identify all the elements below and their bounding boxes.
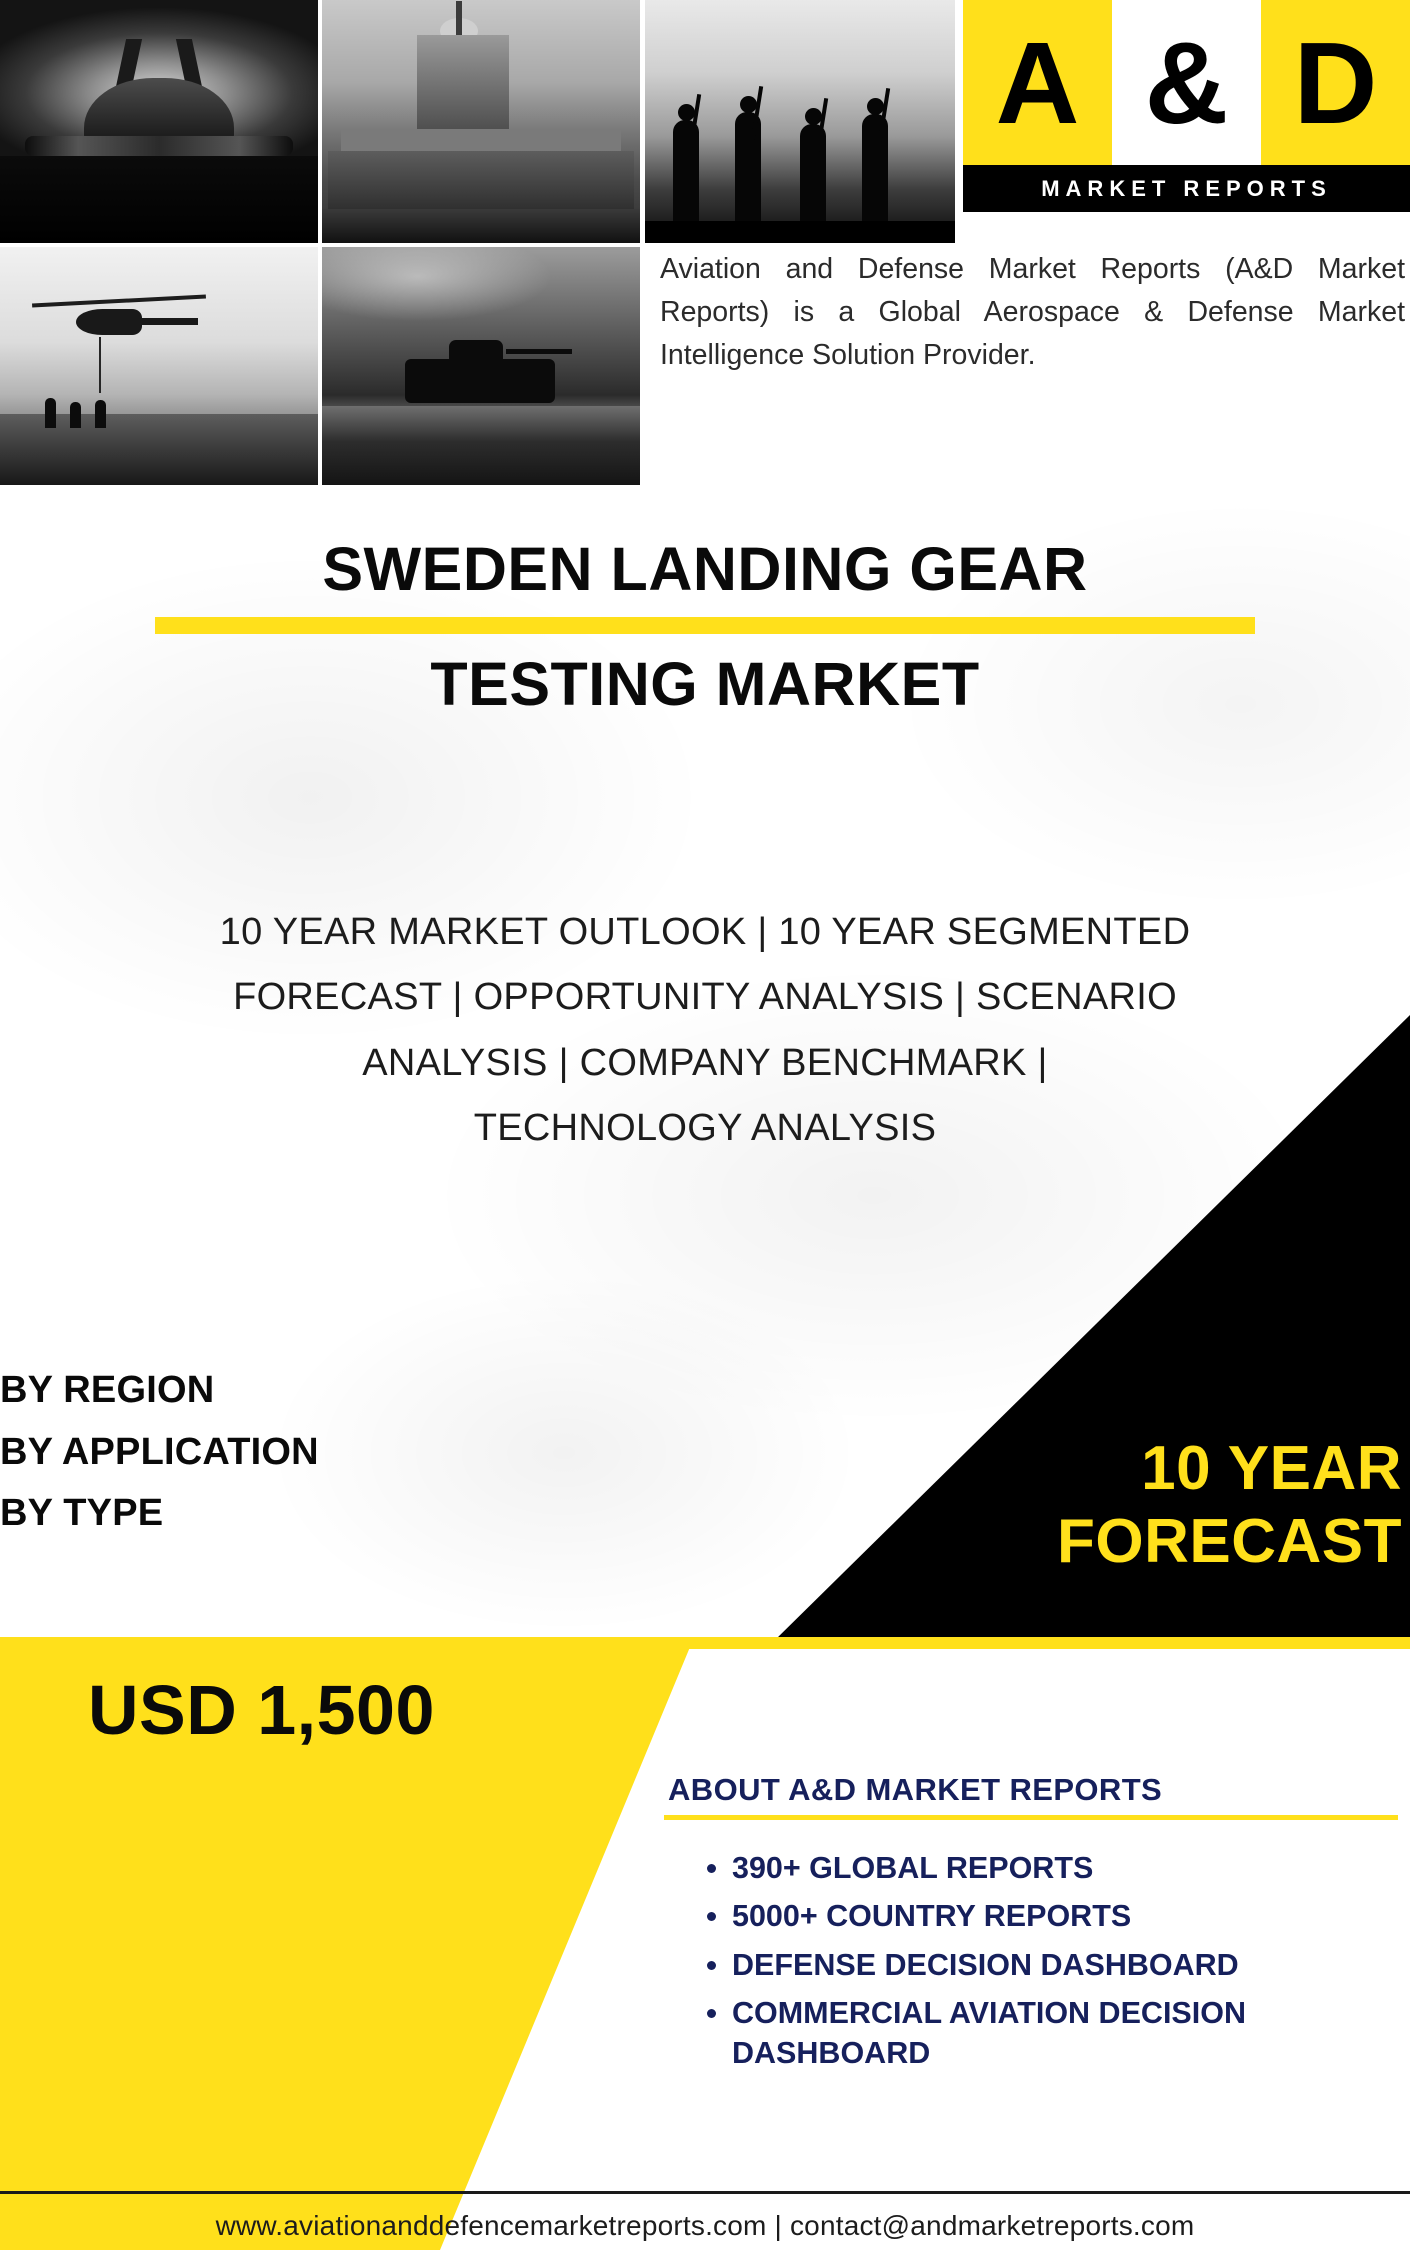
intro-paragraph: Aviation and Defense Market Reports (A&D… [660,248,1405,376]
logo-letter-d: D [1261,0,1410,165]
armored-vehicle-photo [322,247,640,485]
helicopter-photo [0,247,318,485]
subtitle-line-3: ANALYSIS | COMPANY BENCHMARK | [0,1031,1410,1096]
jet-wing [25,136,293,156]
about-heading-underline [664,1815,1398,1820]
subtitle-line-1: 10 YEAR MARKET OUTLOOK | 10 YEAR SEGMENT… [0,900,1410,965]
field-figure [95,400,106,428]
title-line-2: TESTING MARKET [0,650,1410,718]
tank-ground [322,406,640,485]
helicopter-tail-boom [140,318,198,325]
soldier-silhouette [735,112,761,224]
subtitle-line-2: FORECAST | OPPORTUNITY ANALYSIS | SCENAR… [0,965,1410,1030]
footer-contact: www.aviationanddefencemarketreports.com … [0,2210,1410,2242]
forecast-line-1: 10 YEAR [662,1432,1402,1505]
ship-water [322,209,640,243]
field-figure [70,402,81,428]
soldiers-ground [645,221,955,243]
helicopter-fuselage [76,309,142,335]
jet-runway [0,156,318,243]
tank-gun-barrel [506,349,572,354]
about-bullet-list: 390+ GLOBAL REPORTS 5000+ COUNTRY REPORT… [690,1848,1410,2081]
soldiers-silhouette-photo [645,0,955,243]
footer-divider [0,2191,1410,2194]
tank-turret [449,340,503,364]
logo-letter-ampersand: & [1112,0,1261,165]
subtitle-block: 10 YEAR MARKET OUTLOOK | 10 YEAR SEGMENT… [0,900,1410,1161]
forecast-line-2: FORECAST [662,1505,1402,1578]
soldier-silhouette [862,114,888,224]
about-heading: ABOUT A&D MARKET REPORTS [668,1772,1398,1808]
subtitle-line-4: TECHNOLOGY ANALYSIS [0,1096,1410,1161]
helicopter-rappel-line [99,337,101,393]
title-line-1: SWEDEN LANDING GEAR [0,535,1410,603]
tank-hull [405,359,555,403]
about-item-global-reports: 390+ GLOBAL REPORTS [732,1848,1410,1888]
about-item-defense-dashboard: DEFENSE DECISION DASHBOARD [732,1945,1410,1985]
title-yellow-rule [155,617,1255,634]
logo-letter-a: A [963,0,1112,165]
logo-subtitle-text: MARKET REPORTS [1041,176,1332,202]
fighter-jet-photo [0,0,318,243]
price-value: USD 1,500 [88,1670,435,1750]
aircraft-carrier-photo [322,0,640,243]
about-item-country-reports: 5000+ COUNTRY REPORTS [732,1896,1410,1936]
segment-list: BY REGION BY APPLICATION BY TYPE [0,1360,319,1545]
logo-subtitle-bar: MARKET REPORTS [963,165,1410,212]
soldier-silhouette [800,124,826,224]
page-title: SWEDEN LANDING GEAR TESTING MARKET [0,535,1410,719]
forecast-callout: 10 YEAR FORECAST [662,1432,1410,1578]
ship-hull [328,151,633,214]
soldier-silhouette [673,120,699,224]
segment-by-type: BY TYPE [0,1483,319,1545]
field-figure [45,398,56,428]
about-item-commercial-dashboard: COMMERCIAL AVIATION DECISION DASHBOARD [732,1993,1410,2074]
segment-by-region: BY REGION [0,1360,319,1422]
segment-by-application: BY APPLICATION [0,1422,319,1484]
ship-flight-deck [341,129,621,153]
brand-logo: A & D MARKET REPORTS [963,0,1410,215]
ship-island-tower [417,35,509,131]
photo-strip [0,0,955,485]
logo-letter-row: A & D [963,0,1410,165]
